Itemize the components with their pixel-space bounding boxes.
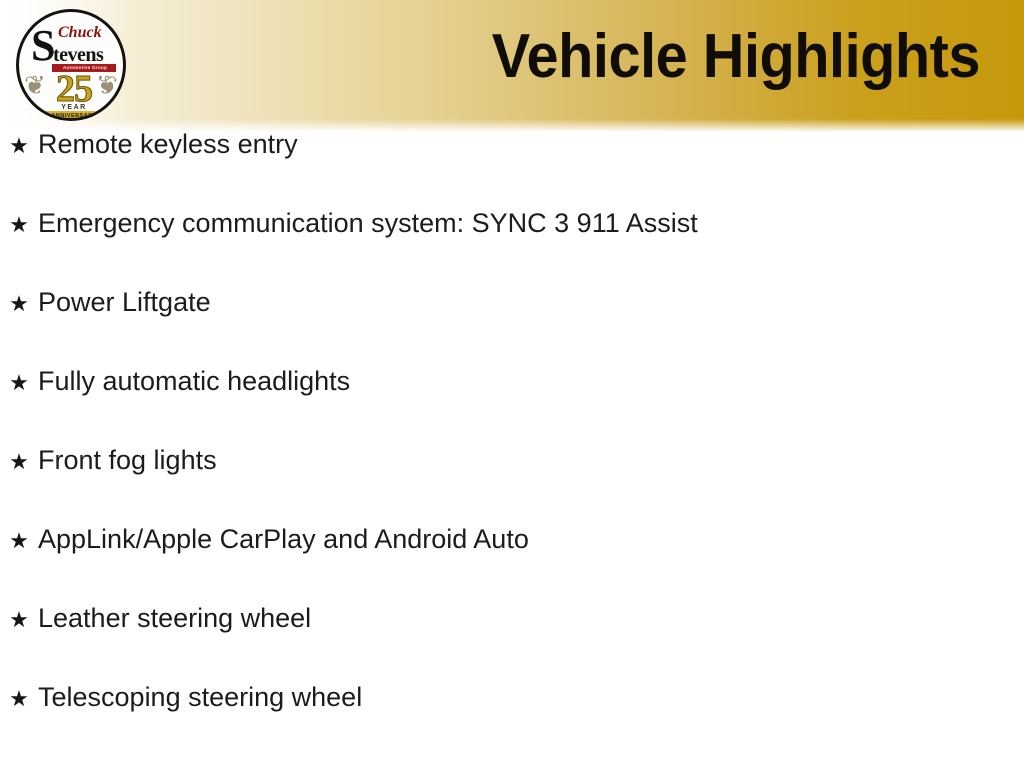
page-title: Vehicle Highlights xyxy=(492,26,980,88)
logo-anniversary-banner: ANNIVERSARY xyxy=(44,111,104,121)
list-item: ★ Fully automatic headlights xyxy=(0,368,1024,447)
list-item-label: Front fog lights xyxy=(38,447,217,474)
logo-monogram-s: S xyxy=(31,24,55,68)
star-bullet-icon: ★ xyxy=(0,451,38,473)
star-bullet-icon: ★ xyxy=(0,214,38,236)
logo-years-number: 25 xyxy=(19,70,126,108)
list-item-label: Power Liftgate xyxy=(38,289,211,316)
list-item-label: AppLink/Apple CarPlay and Android Auto xyxy=(38,526,529,553)
logo-outer-ring: ❦ ❦ S Chuck tevens Automotive Group 25 Y… xyxy=(16,9,126,121)
star-bullet-icon: ★ xyxy=(0,530,38,552)
list-item-label: Fully automatic headlights xyxy=(38,368,350,395)
star-bullet-icon: ★ xyxy=(0,688,38,710)
slide-header: Vehicle Highlights xyxy=(0,0,1024,131)
vehicle-highlights-list: ★ Remote keyless entry ★ Emergency commu… xyxy=(0,131,1024,763)
list-item: ★ AppLink/Apple CarPlay and Android Auto xyxy=(0,526,1024,605)
list-item: ★ Leather steering wheel xyxy=(0,605,1024,684)
list-item: ★ Front fog lights xyxy=(0,447,1024,526)
list-item-label: Emergency communication system: SYNC 3 9… xyxy=(38,210,698,237)
logo-chuck-text: Chuck xyxy=(58,25,102,41)
star-bullet-icon: ★ xyxy=(0,609,38,631)
list-item-label: Leather steering wheel xyxy=(38,605,311,632)
list-item: ★ Emergency communication system: SYNC 3… xyxy=(0,210,1024,289)
logo-year-label: YEAR xyxy=(19,104,126,111)
logo-inner-face: ❦ ❦ S Chuck tevens Automotive Group 25 Y… xyxy=(19,12,123,118)
dealership-logo: ❦ ❦ S Chuck tevens Automotive Group 25 Y… xyxy=(16,9,126,121)
slide-vehicle-highlights: Vehicle Highlights ❦ ❦ S Chuck tevens Au… xyxy=(0,0,1024,768)
list-item: ★ Power Liftgate xyxy=(0,289,1024,368)
list-item: ★ Remote keyless entry xyxy=(0,131,1024,210)
star-bullet-icon: ★ xyxy=(0,135,38,157)
list-item: ★ Telescoping steering wheel xyxy=(0,684,1024,763)
list-item-label: Telescoping steering wheel xyxy=(38,684,362,711)
star-bullet-icon: ★ xyxy=(0,293,38,315)
logo-stevens-text: tevens xyxy=(53,45,103,65)
list-item-label: Remote keyless entry xyxy=(38,131,298,158)
star-bullet-icon: ★ xyxy=(0,372,38,394)
